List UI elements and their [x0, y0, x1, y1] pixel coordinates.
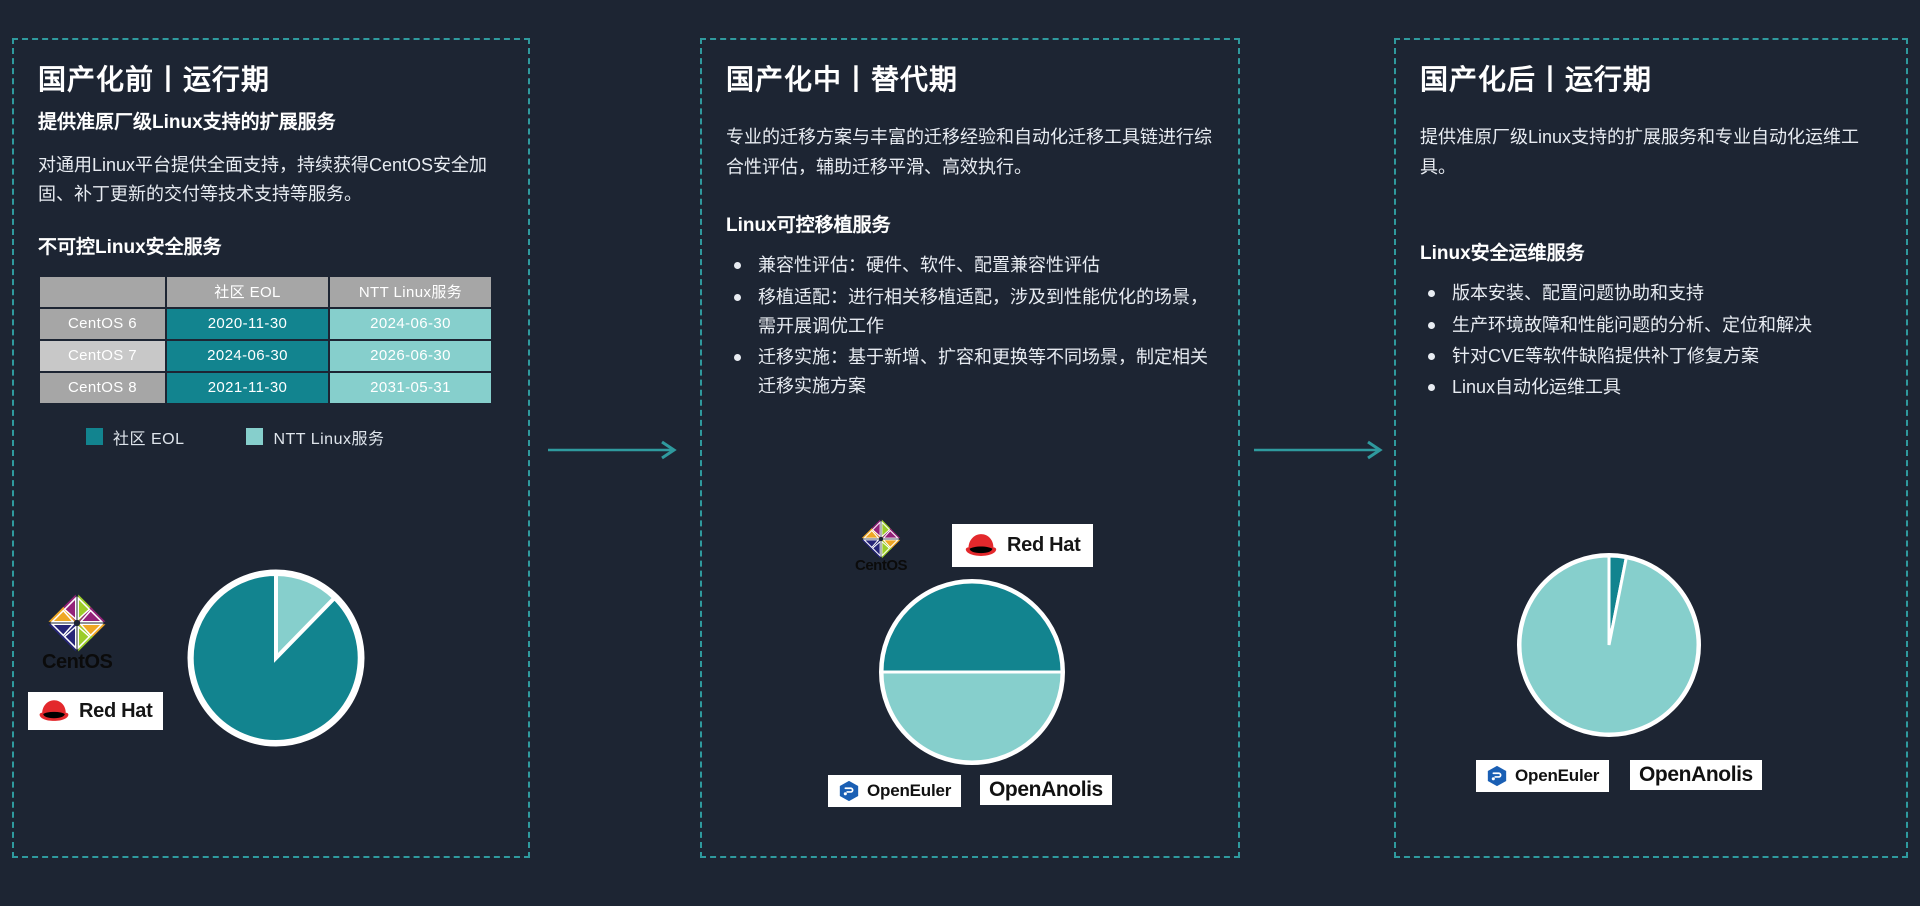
table-row: CentOS 8 2021-11-30 2031-05-31 [40, 373, 491, 403]
table-cell-ntt: 2026-06-30 [330, 341, 491, 371]
table-cell-eol: 2021-11-30 [167, 373, 328, 403]
legend-swatch-icon [246, 428, 263, 445]
panel-3-title: 国产化后丨运行期 [1420, 62, 1882, 97]
pie-chart-during [878, 578, 1066, 771]
panel-2-title: 国产化中丨替代期 [726, 62, 1214, 97]
openeuler-logo-icon [1486, 765, 1508, 787]
pie-chart-before [186, 568, 366, 753]
arrow-panel1-to-panel2 [546, 438, 686, 462]
table-row: CentOS 6 2020-11-30 2024-06-30 [40, 309, 491, 339]
list-item: 针对CVE等软件缺陷提供补丁修复方案 [1420, 342, 1882, 371]
legend-item-community-eol: 社区 EOL [86, 425, 184, 449]
redhat-logo-icon [962, 532, 1000, 559]
table-row: CentOS 7 2024-06-30 2026-06-30 [40, 341, 491, 371]
list-item: 生产环境故障和性能问题的分析、定位和解决 [1420, 311, 1882, 340]
panel-3-description: 提供准原厂级Linux支持的扩展服务和专业自动化运维工具。 [1420, 123, 1882, 182]
table-cell-ntt: 2024-06-30 [330, 309, 491, 339]
centos-logo-text: CentOS [42, 651, 112, 674]
redhat-logo-text: Red Hat [79, 700, 152, 723]
legend-swatch-icon [86, 428, 103, 445]
centos-logo-text: CentOS [855, 557, 907, 574]
table-header-blank [40, 277, 165, 307]
panel-2-bullet-list: 兼容性评估：硬件、软件、配置兼容性评估 移植适配：进行相关移植适配，涉及到性能优… [726, 251, 1214, 401]
centos-logo: CentOS [42, 592, 112, 674]
redhat-logo-icon [36, 698, 72, 724]
redhat-logo: Red Hat [28, 692, 163, 730]
redhat-logo: Red Hat [952, 524, 1093, 567]
legend-label: NTT Linux服务 [273, 425, 384, 449]
pie-legend: 社区 EOL NTT Linux服务 [38, 425, 504, 449]
centos-logo-icon [860, 518, 902, 560]
list-item: 移植适配：进行相关移植适配，涉及到性能优化的场景，需开展调优工作 [726, 283, 1214, 341]
list-item: 版本安装、配置问题协助和支持 [1420, 279, 1882, 308]
centos-logo-icon [46, 592, 108, 654]
openanolis-logo: OpenAnolis [980, 775, 1112, 805]
panel-2-description: 专业的迁移方案与丰富的迁移经验和自动化迁移工具链进行综合性评估，辅助迁移平滑、高… [726, 123, 1214, 182]
panel-1-title: 国产化前丨运行期 [38, 62, 504, 97]
list-item: Linux自动化运维工具 [1420, 373, 1882, 402]
table-cell-os: CentOS 6 [40, 309, 165, 339]
table-cell-os: CentOS 7 [40, 341, 165, 371]
panel-1-subtitle: 提供准原厂级Linux支持的扩展服务 [38, 109, 504, 137]
slide-canvas: 国产化前丨运行期 提供准原厂级Linux支持的扩展服务 对通用Linux平台提供… [0, 0, 1920, 906]
arrow-panel2-to-panel3 [1252, 438, 1392, 462]
openeuler-logo: OpenEuler [828, 775, 961, 807]
openanolis-logo-text: OpenAnolis [1639, 763, 1753, 786]
table-cell-ntt: 2031-05-31 [330, 373, 491, 403]
legend-label: 社区 EOL [113, 425, 184, 449]
panel-2-section-heading: Linux可控移植服务 [726, 210, 1214, 237]
panel-3-section-heading: Linux安全运维服务 [1420, 238, 1882, 265]
table-cell-eol: 2020-11-30 [167, 309, 328, 339]
table-header-row: 社区 EOL NTT Linux服务 [40, 277, 491, 307]
openeuler-logo-text: OpenEuler [867, 781, 951, 801]
table-cell-os: CentOS 8 [40, 373, 165, 403]
panel-1-section-heading: 不可控Linux安全服务 [38, 232, 504, 259]
openeuler-logo-text: OpenEuler [1515, 766, 1599, 786]
panel-3-bullet-list: 版本安装、配置问题协助和支持 生产环境故障和性能问题的分析、定位和解决 针对CV… [1420, 279, 1882, 402]
panel-1-description: 对通用Linux平台提供全面支持，持续获得CentOS安全加固、补丁更新的交付等… [38, 151, 504, 210]
list-item: 迁移实施：基于新增、扩容和更换等不同场景，制定相关迁移实施方案 [726, 343, 1214, 401]
centos-eol-table: 社区 EOL NTT Linux服务 CentOS 6 2020-11-30 2… [38, 275, 493, 405]
table-header-community-eol: 社区 EOL [167, 277, 328, 307]
legend-item-ntt-linux: NTT Linux服务 [246, 425, 384, 449]
table-header-ntt-linux: NTT Linux服务 [330, 277, 491, 307]
pie-chart-after [1516, 552, 1702, 743]
list-item: 兼容性评估：硬件、软件、配置兼容性评估 [726, 251, 1214, 280]
openeuler-logo: OpenEuler [1476, 760, 1609, 792]
centos-logo: CentOS [855, 518, 907, 574]
openanolis-logo-text: OpenAnolis [989, 778, 1103, 801]
openanolis-logo: OpenAnolis [1630, 760, 1762, 790]
table-cell-eol: 2024-06-30 [167, 341, 328, 371]
openeuler-logo-icon [838, 780, 860, 802]
redhat-logo-text: Red Hat [1007, 534, 1080, 557]
